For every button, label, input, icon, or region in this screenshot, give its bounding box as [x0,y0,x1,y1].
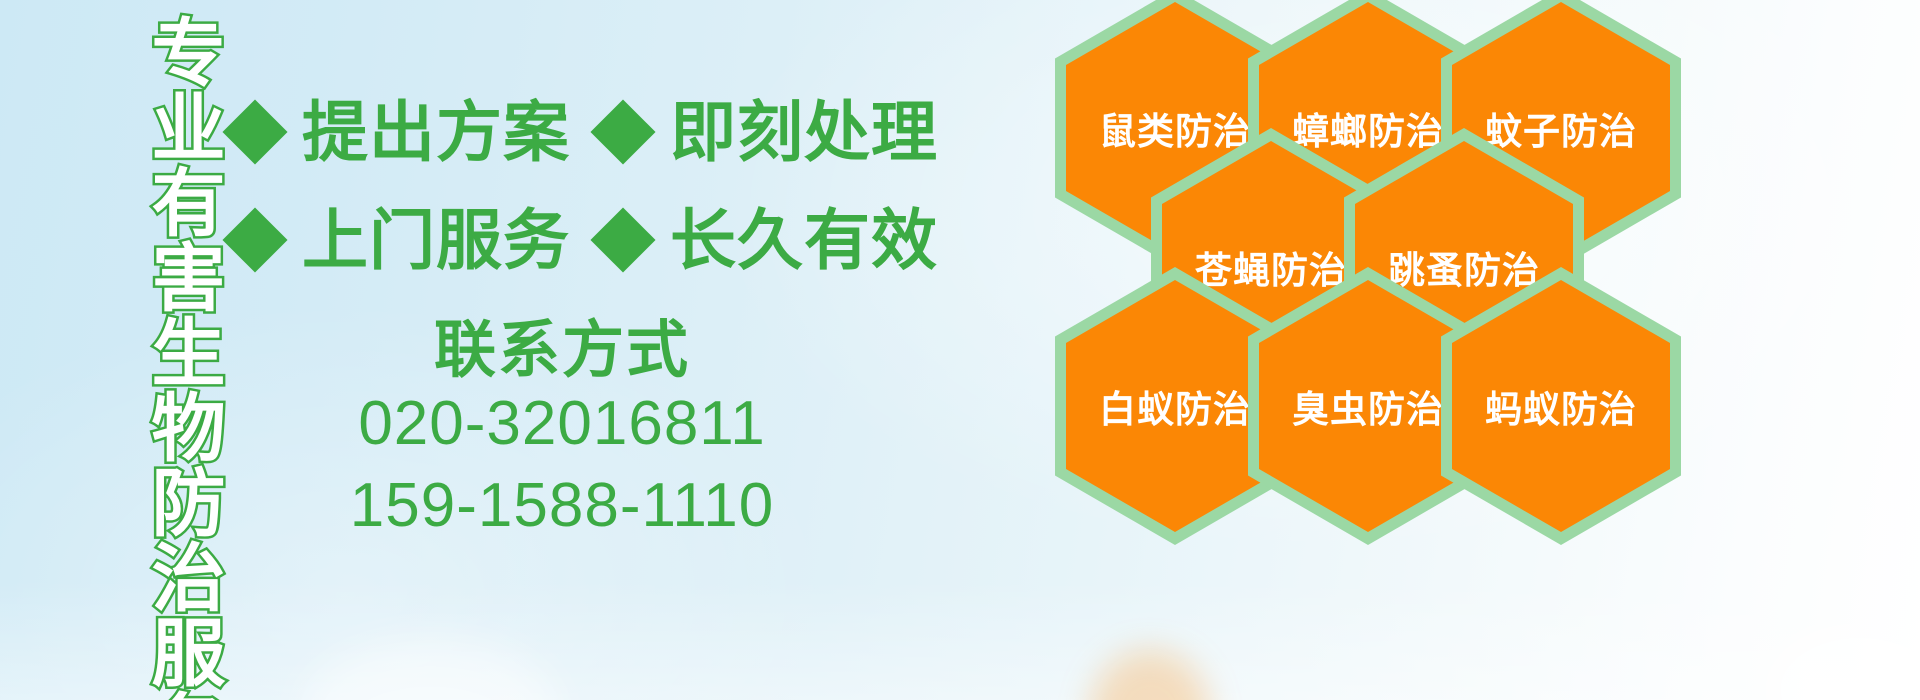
service-hex-label: 苍蝇防治 [1195,240,1347,294]
feature-row: 上门服务 长久有效 [232,186,872,294]
diamond-icon [222,99,287,164]
service-hex-label: 蚊子防治 [1485,101,1637,155]
service-hex-label: 跳蚤防治 [1388,240,1540,294]
service-hex-label: 蚂蚁防治 [1485,379,1637,433]
feature-row: 提出方案 即刻处理 [232,78,872,186]
feature-label: 上门服务 [302,207,570,273]
feature-label: 提出方案 [302,99,570,165]
service-hexagon-grid: 鼠类防治 蟑螂防治 蚊子防治 苍蝇防治 跳蚤防治 白蚁防治 臭虫防治 [1055,0,1775,700]
feature-label: 长久有效 [670,207,938,273]
diamond-icon [222,207,287,272]
contact-title: 联系方式 [232,318,892,383]
vertical-headline: 专业有害生物防治服务 [110,14,218,686]
diamond-icon [590,207,655,272]
diamond-icon [590,99,655,164]
background-blob-right [1760,620,1920,700]
contact-phone-mobile[interactable]: 159-1588-1110 [232,465,892,547]
pest-control-banner: 专业有害生物防治服务 提出方案 即刻处理 上门服务 长久有效 联系方式 020-… [0,0,1920,700]
service-hex-label: 蟑螂防治 [1292,101,1444,155]
service-hex-label: 臭虫防治 [1292,379,1444,433]
feature-list: 提出方案 即刻处理 上门服务 长久有效 [232,78,872,294]
service-hex-label: 鼠类防治 [1099,101,1251,155]
feature-label: 即刻处理 [670,99,938,165]
contact-block: 联系方式 020-32016811 159-1588-1110 [232,318,892,547]
contact-phone-landline[interactable]: 020-32016811 [232,383,892,465]
background-blob-left [300,640,560,700]
service-hex-label: 白蚁防治 [1099,379,1251,433]
